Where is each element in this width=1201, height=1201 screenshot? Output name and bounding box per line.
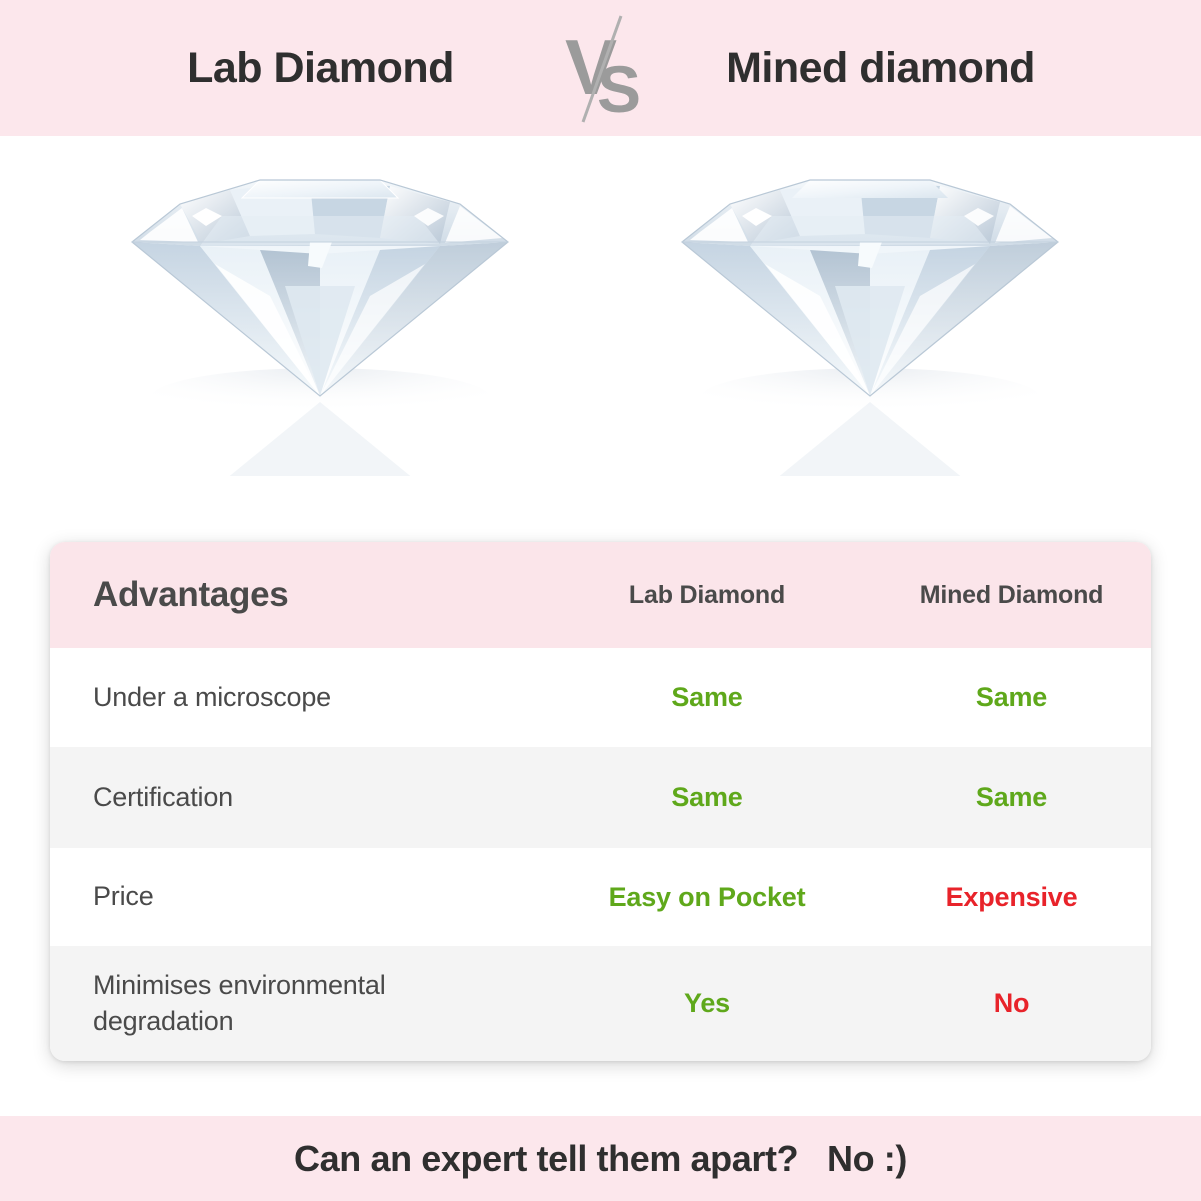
header-left-title: Lab Diamond xyxy=(101,44,541,93)
table-row: Certification Same Same xyxy=(50,747,1151,848)
mined-value: Same xyxy=(976,682,1047,712)
feature-label: Minimises environmental degradation xyxy=(93,970,386,1035)
lab-value: Easy on Pocket xyxy=(609,882,806,912)
vs-badge: V S xyxy=(541,8,661,128)
header-cell-mined: Mined Diamond xyxy=(872,581,1151,610)
mined-value: Expensive xyxy=(946,882,1078,912)
diamond-icon xyxy=(110,146,530,476)
feature-label: Price xyxy=(93,881,154,911)
feature-label: Certification xyxy=(93,782,233,812)
header-cell-lab: Lab Diamond xyxy=(542,581,872,610)
cell-feature: Minimises environmental degradation xyxy=(50,968,542,1038)
cell-mined-value: Same xyxy=(872,682,1151,713)
footer-banner: Can an expert tell them apart? No :) xyxy=(0,1116,1201,1201)
cell-mined-value: Same xyxy=(872,782,1151,813)
header-lab-label: Lab Diamond xyxy=(629,581,785,609)
mined-value: Same xyxy=(976,782,1047,812)
header-mined-label: Mined Diamond xyxy=(920,581,1104,609)
mined-diamond-image xyxy=(660,146,1080,476)
header-right-title: Mined diamond xyxy=(661,44,1101,93)
cell-feature: Under a microscope xyxy=(50,680,542,715)
mined-value: No xyxy=(994,988,1030,1018)
diamond-icon xyxy=(660,146,1080,476)
cell-mined-value: Expensive xyxy=(872,882,1151,913)
feature-label: Under a microscope xyxy=(93,682,331,712)
header-advantages-label: Advantages xyxy=(93,575,288,614)
cell-lab-value: Same xyxy=(542,682,872,713)
table-row: Price Easy on Pocket Expensive xyxy=(50,848,1151,946)
lab-value: Yes xyxy=(684,988,730,1018)
lab-value: Same xyxy=(671,682,742,712)
cell-lab-value: Same xyxy=(542,782,872,813)
infographic-page: Lab Diamond V S Mined diamond xyxy=(0,0,1201,1201)
cell-feature: Price xyxy=(50,879,542,914)
comparison-table: Advantages Lab Diamond Mined Diamond Und… xyxy=(50,542,1151,1061)
cell-lab-value: Yes xyxy=(542,988,872,1019)
header-banner: Lab Diamond V S Mined diamond xyxy=(0,0,1201,136)
cell-lab-value: Easy on Pocket xyxy=(542,882,872,913)
table-row: Minimises environmental degradation Yes … xyxy=(50,946,1151,1061)
lab-diamond-image xyxy=(110,146,530,476)
footer-question: Can an expert tell them apart? No :) xyxy=(294,1138,907,1180)
cell-feature: Certification xyxy=(50,780,542,815)
table-header-row: Advantages Lab Diamond Mined Diamond xyxy=(50,542,1151,648)
cell-mined-value: No xyxy=(872,988,1151,1019)
table-row: Under a microscope Same Same xyxy=(50,648,1151,747)
header-cell-feature: Advantages xyxy=(50,575,542,615)
vs-icon: V S xyxy=(541,8,661,128)
lab-value: Same xyxy=(671,782,742,812)
diamond-image-area xyxy=(0,136,1201,526)
